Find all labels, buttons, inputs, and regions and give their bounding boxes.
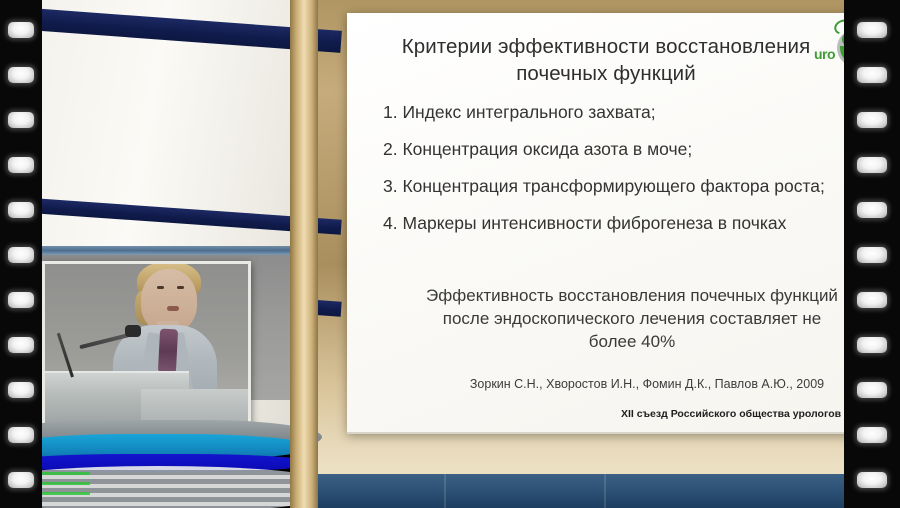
speaker-eye	[157, 286, 164, 289]
stage-gold-column	[290, 0, 318, 508]
film-sprocket-hole	[8, 67, 34, 83]
film-sprocket-hole	[8, 472, 34, 488]
backdrop-blue-line	[42, 246, 304, 255]
presentation-slide: uro tv Критерии эффективности восстановл…	[347, 13, 844, 434]
film-sprocket-hole	[857, 427, 887, 443]
film-strip-right	[844, 0, 900, 508]
film-sprocket-hole	[8, 157, 34, 173]
film-sprocket-hole	[857, 472, 887, 488]
list-item: 2. Концентрация оксида азота в моче;	[383, 138, 844, 160]
film-sprocket-hole	[857, 247, 887, 263]
film-sprocket-hole	[857, 337, 887, 353]
speaker-inset-panel	[42, 261, 251, 432]
film-sprocket-hole	[8, 202, 34, 218]
list-item: 1. Индекс интегрального захвата;	[383, 101, 844, 123]
film-sprocket-hole	[857, 202, 887, 218]
speaker-mouth	[167, 306, 179, 311]
video-scene: uro tv Критерии эффективности восстановл…	[42, 0, 844, 508]
slide-title: Критерии эффективности восстановления по…	[371, 33, 841, 87]
film-sprocket-hole	[857, 382, 887, 398]
film-sprocket-hole	[8, 292, 34, 308]
film-sprocket-hole	[857, 112, 887, 128]
film-sprocket-hole	[8, 112, 34, 128]
video-player-stage: uro tv Критерии эффективности восстановл…	[0, 0, 900, 508]
film-strip-left	[0, 0, 42, 508]
film-sprocket-hole	[857, 67, 887, 83]
film-sprocket-hole	[8, 22, 34, 38]
film-sprocket-hole	[857, 292, 887, 308]
footer-divider	[347, 432, 844, 434]
film-sprocket-hole	[8, 247, 34, 263]
film-sprocket-hole	[8, 337, 34, 353]
film-sprocket-hole	[8, 427, 34, 443]
speaker-eye	[177, 286, 184, 289]
film-sprocket-hole	[857, 22, 887, 38]
speaker-scarf	[158, 329, 178, 374]
stage-floor-strip	[304, 474, 844, 508]
studio-desk	[42, 416, 322, 508]
slide-footer: XII съезд Российского общества урологов …	[621, 408, 844, 420]
slide-highlight-statement: Эффективность восстановления почечных фу…	[417, 285, 844, 354]
microphone-head	[125, 325, 141, 337]
desk-green-accent	[42, 472, 90, 502]
slide-citation: Зоркин С.Н., Хворостов И.Н., Фомин Д.К.,…	[407, 377, 844, 391]
film-sprocket-hole	[857, 157, 887, 173]
film-sprocket-hole	[8, 382, 34, 398]
list-item: 3. Концентрация трансформирующего фактор…	[383, 175, 844, 197]
speaker-video	[45, 264, 248, 429]
slide-bullet-list: 1. Индекс интегрального захвата; 2. Конц…	[383, 101, 844, 249]
list-item: 4. Маркеры интенсивности фиброгенеза в п…	[383, 212, 844, 234]
